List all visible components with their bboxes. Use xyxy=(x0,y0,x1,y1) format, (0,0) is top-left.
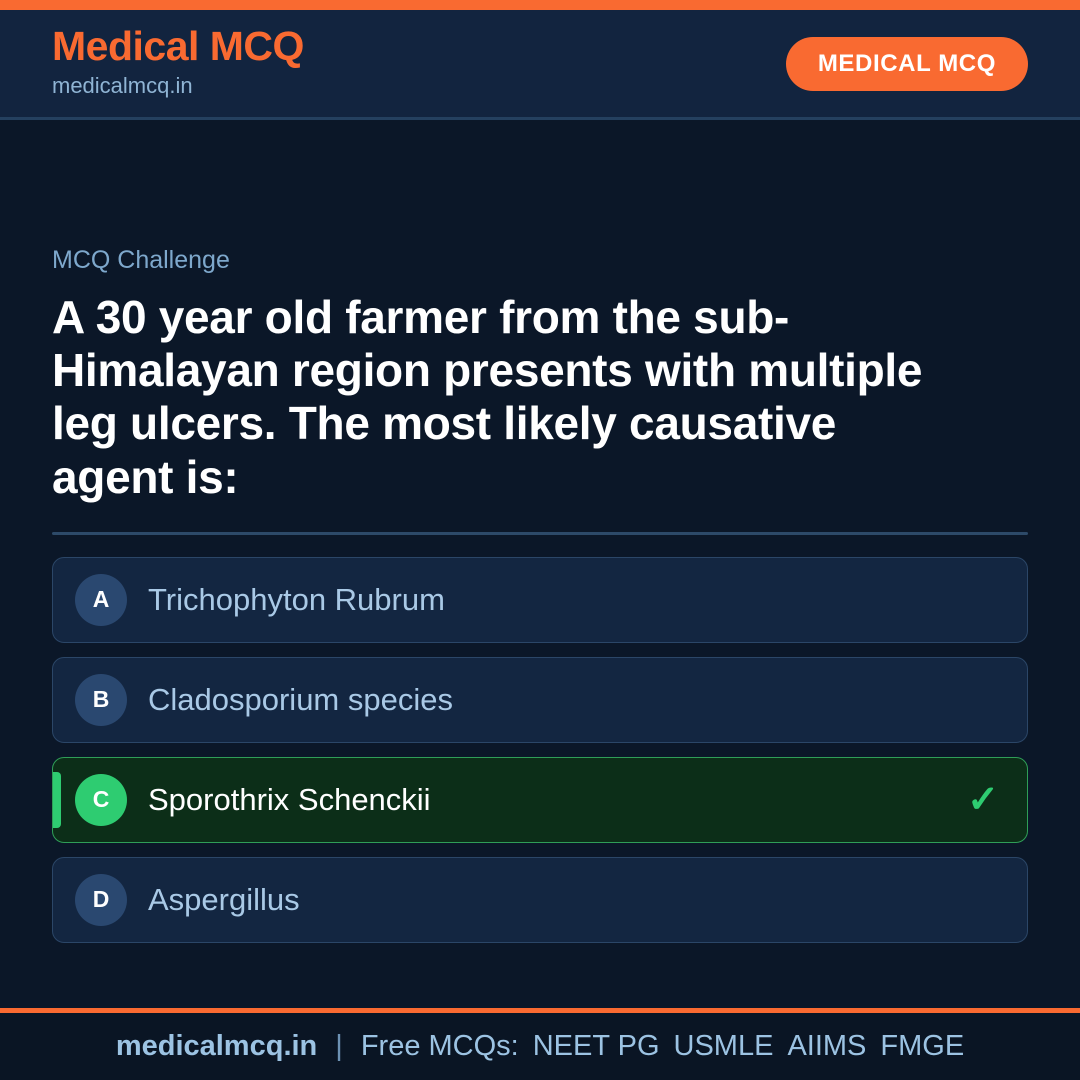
main-content: MCQ Challenge A 30 year old farmer from … xyxy=(0,120,1080,1008)
footer-exam-aiims: AIIMS xyxy=(787,1030,866,1063)
option-b-label: Cladosporium species xyxy=(148,683,453,717)
footer-label: Free MCQs: xyxy=(361,1030,519,1063)
footer-exam-neet-pg: NEET PG xyxy=(533,1030,660,1063)
brand-title: Medical MCQ xyxy=(52,25,304,68)
footer-site: medicalmcq.in xyxy=(116,1030,317,1063)
footer-exam-fmge: FMGE xyxy=(880,1030,964,1063)
brand-block: Medical MCQ medicalmcq.in xyxy=(52,25,304,102)
page-header: Medical MCQ medicalmcq.in MEDICAL MCQ xyxy=(0,10,1080,120)
option-d-badge: D xyxy=(75,874,127,926)
option-b[interactable]: B Cladosporium species xyxy=(52,657,1028,743)
section-divider xyxy=(52,532,1028,535)
eyebrow-label: MCQ Challenge xyxy=(52,247,1028,275)
option-c[interactable]: C Sporothrix Schenckii ✓ xyxy=(52,757,1028,843)
option-c-badge: C xyxy=(75,774,127,826)
option-d[interactable]: D Aspergillus xyxy=(52,857,1028,943)
options-list: A Trichophyton Rubrum B Cladosporium spe… xyxy=(52,557,1028,943)
page-footer: medicalmcq.in | Free MCQs: NEET PG USMLE… xyxy=(0,1008,1080,1080)
option-c-label: Sporothrix Schenckii xyxy=(148,783,431,817)
option-d-label: Aspergillus xyxy=(148,883,300,917)
option-a-label: Trichophyton Rubrum xyxy=(148,583,445,617)
option-a[interactable]: A Trichophyton Rubrum xyxy=(52,557,1028,643)
footer-exam-usmle: USMLE xyxy=(674,1030,774,1063)
check-icon: ✓ xyxy=(967,781,1005,819)
option-a-badge: A xyxy=(75,574,127,626)
question-text: A 30 year old farmer from the sub-Himala… xyxy=(52,291,952,504)
footer-separator: | xyxy=(335,1030,343,1063)
footer-text: medicalmcq.in | Free MCQs: NEET PG USMLE… xyxy=(116,1030,964,1063)
option-b-badge: B xyxy=(75,674,127,726)
header-badge: MEDICAL MCQ xyxy=(786,37,1028,91)
brand-subtitle: medicalmcq.in xyxy=(52,71,304,102)
mcq-card: Medical MCQ medicalmcq.in MEDICAL MCQ MC… xyxy=(0,0,1080,1080)
top-accent-bar xyxy=(0,0,1080,10)
